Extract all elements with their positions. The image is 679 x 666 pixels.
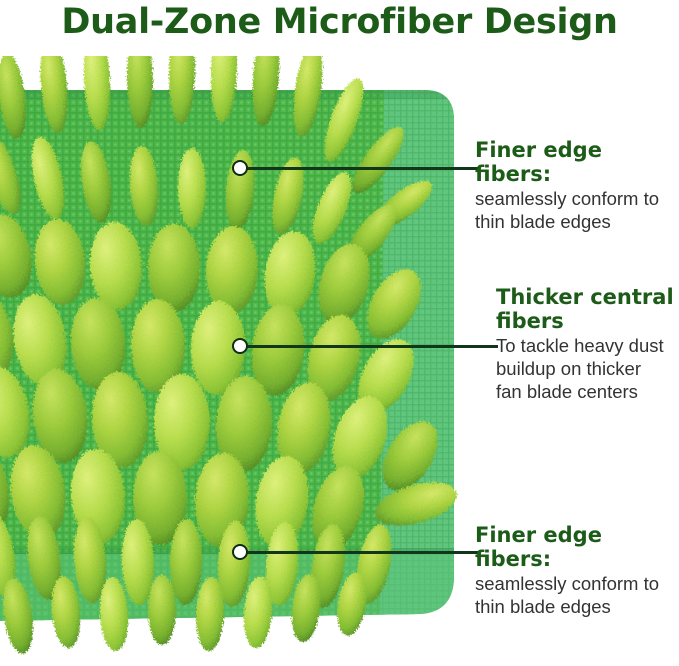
leader-line-segment	[240, 167, 478, 170]
callout-middle-body: To tackle heavy dust buildup on thicker …	[496, 334, 679, 403]
callout-top: Finer edge fibers: seamlessly conform to…	[475, 139, 679, 233]
page-title: Dual-Zone Microfiber Design	[0, 2, 679, 42]
leader-line-segment	[240, 345, 498, 348]
leader-line-segment	[240, 551, 478, 554]
callout-top-body: seamlessly conform to thin blade edges	[475, 187, 679, 233]
product-photo	[0, 56, 462, 656]
leader-marker-dot	[232, 160, 248, 176]
callout-bottom: Finer edge fibers: seamlessly conform to…	[475, 524, 679, 618]
leader-marker-dot	[232, 338, 248, 354]
callout-middle-heading: Thicker central fibers	[496, 286, 679, 333]
callout-middle: Thicker central fibers To tackle heavy d…	[496, 286, 679, 403]
microfiber-duster-illustration	[0, 56, 462, 656]
callout-bottom-heading: Finer edge fibers:	[475, 524, 679, 571]
photo-grain	[0, 56, 462, 656]
callout-bottom-body: seamlessly conform to thin blade edges	[475, 572, 679, 618]
callout-top-heading: Finer edge fibers:	[475, 139, 679, 186]
leader-marker-dot	[232, 544, 248, 560]
